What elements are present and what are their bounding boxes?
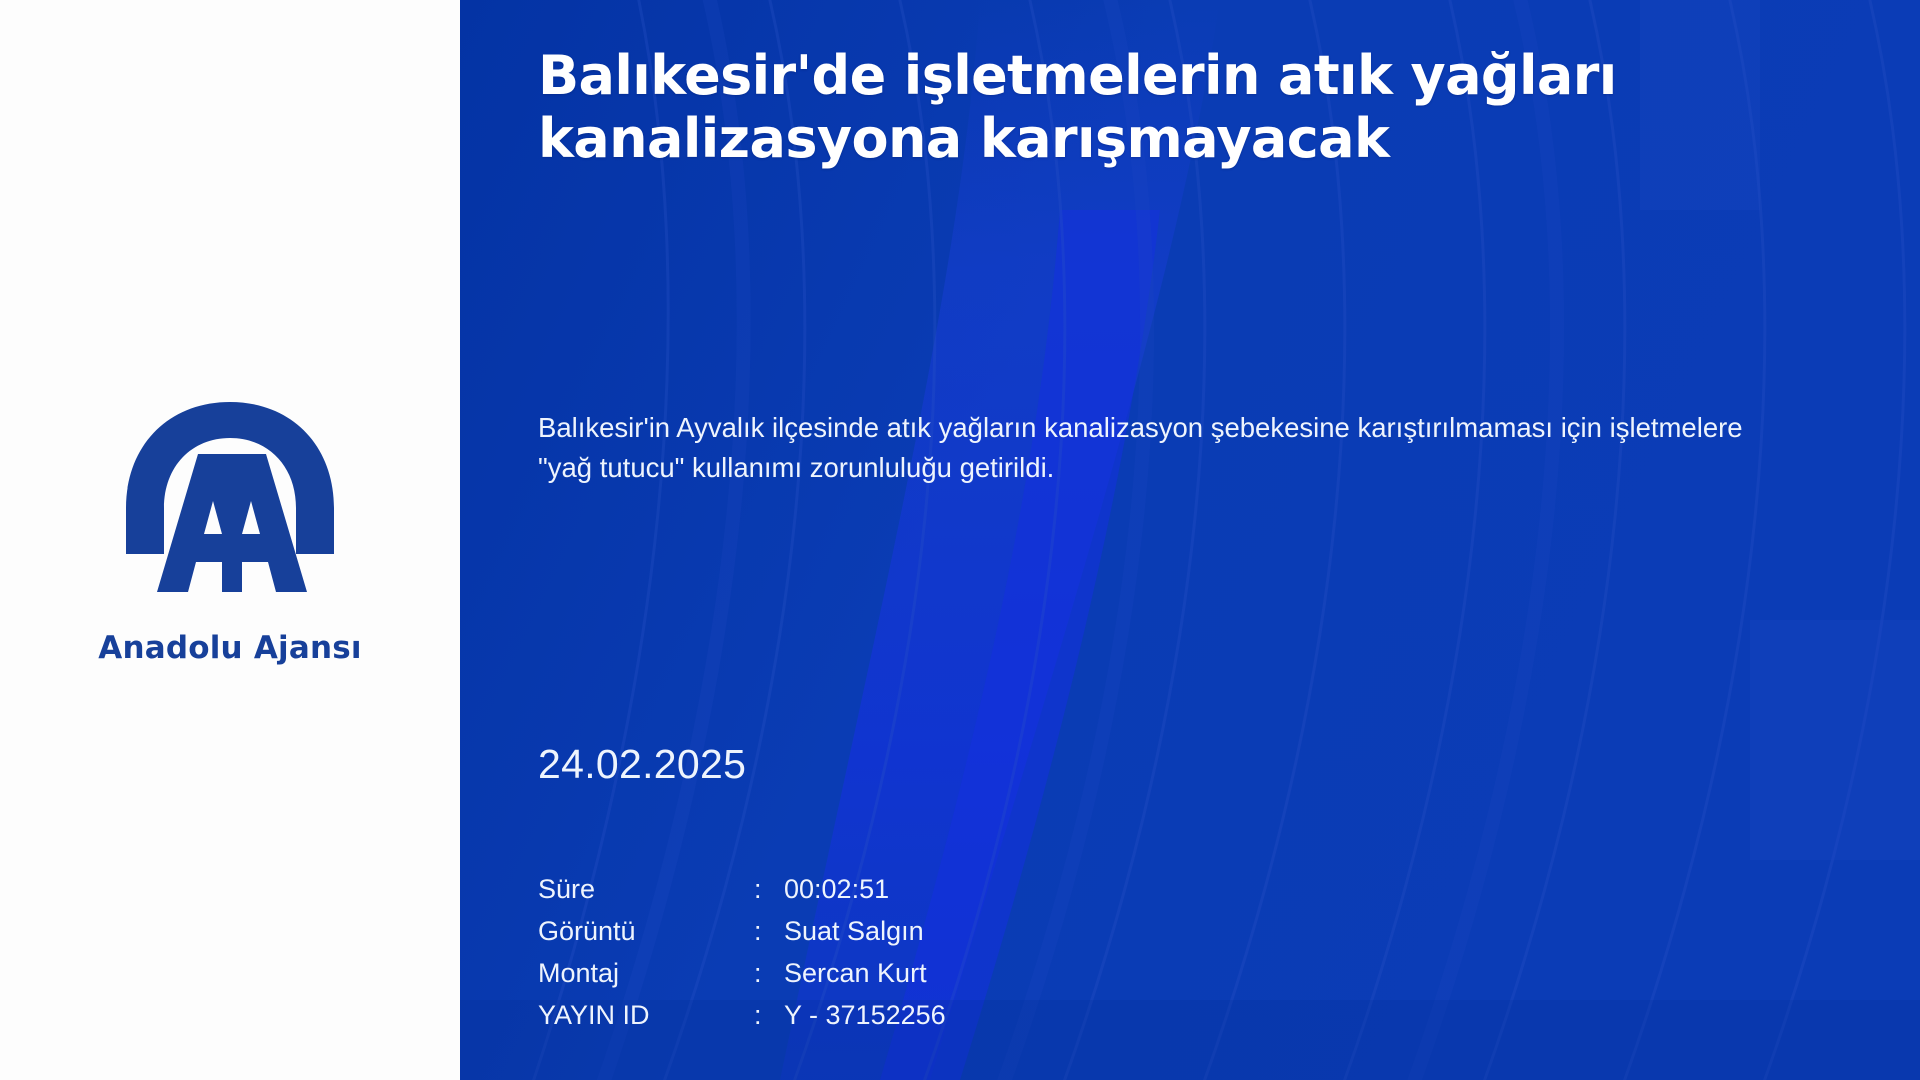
content-panel: Balıkesir'de işletmelerin atık yağları k… [460, 0, 1920, 1080]
text-content: Balıkesir'de işletmelerin atık yağları k… [460, 0, 1920, 1080]
metadata-value: Suat Salgın [784, 914, 946, 956]
table-row: Süre : 00:02:51 [538, 872, 946, 914]
news-summary: Balıkesir'in Ayvalık ilçesinde atık yağl… [538, 408, 1753, 487]
metadata-table: Süre : 00:02:51 Görüntü : Suat Salgın Mo… [538, 872, 946, 1040]
table-row: Görüntü : Suat Salgın [538, 914, 946, 956]
metadata-separator: : [754, 956, 784, 998]
metadata-label: Görüntü [538, 914, 754, 956]
metadata-separator: : [754, 872, 784, 914]
metadata-separator: : [754, 914, 784, 956]
metadata-label: YAYIN ID [538, 998, 754, 1040]
news-card-slide: Anadolu Ajansı [0, 0, 1920, 1080]
table-row: Montaj : Sercan Kurt [538, 956, 946, 998]
metadata-value: Y - 37152256 [784, 998, 946, 1040]
metadata-rows: Süre : 00:02:51 Görüntü : Suat Salgın Mo… [538, 872, 946, 1040]
metadata-separator: : [754, 998, 784, 1040]
metadata-label: Montaj [538, 956, 754, 998]
page-title: Balıkesir'de işletmelerin atık yağları k… [538, 44, 1658, 170]
brand-panel: Anadolu Ajansı [0, 0, 460, 1080]
metadata-label: Süre [538, 872, 754, 914]
metadata-value: 00:02:51 [784, 872, 946, 914]
metadata-value: Sercan Kurt [784, 956, 946, 998]
publish-date: 24.02.2025 [538, 744, 746, 785]
aa-logo-icon [112, 396, 348, 624]
table-row: YAYIN ID : Y - 37152256 [538, 998, 946, 1040]
brand-wordmark: Anadolu Ajansı [98, 630, 361, 666]
logo-block: Anadolu Ajansı [80, 396, 380, 666]
